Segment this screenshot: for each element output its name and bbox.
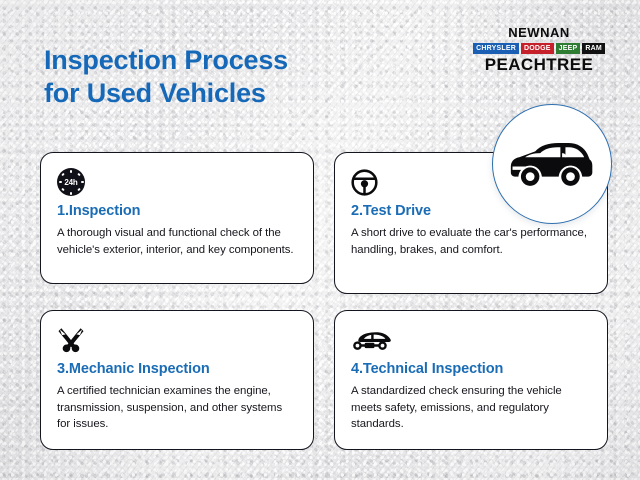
- crossed-wrenches-icon: [57, 326, 85, 354]
- infographic-canvas: Inspection Process for Used Vehicles NEW…: [0, 0, 640, 480]
- card-4-body: A standardized check ensuring the vehicl…: [351, 383, 591, 432]
- card-4-heading: 4.Technical Inspection: [351, 361, 591, 378]
- step-card-1: 24h 1.Inspection A thorough visual and f…: [40, 152, 314, 284]
- card-2-body: A short drive to evaluate the car's perf…: [351, 225, 591, 257]
- suv-car-icon: [510, 135, 594, 193]
- logo-top-text: NEWNAN: [464, 22, 614, 41]
- card-3-heading: 3.Mechanic Inspection: [57, 361, 297, 378]
- car-chassis-icon: [351, 327, 393, 353]
- clock-24h-icon-label: 24h: [64, 178, 77, 187]
- clock-24h-icon: 24h: [57, 168, 85, 196]
- logo-brand-badges: CHRYSLER DODGE JEEP RAM: [464, 43, 614, 54]
- page-title-line-1: Inspection Process: [44, 45, 288, 75]
- step-card-4: 4.Technical Inspection A standardized ch…: [334, 310, 608, 450]
- card-4-icon-wrap: [351, 325, 591, 355]
- badge-jeep: JEEP: [556, 43, 581, 54]
- step-card-3: 3.Mechanic Inspection A certified techni…: [40, 310, 314, 450]
- badge-ram: RAM: [582, 43, 605, 54]
- badge-chrysler: CHRYSLER: [473, 43, 519, 54]
- card-1-body: A thorough visual and functional check o…: [57, 225, 297, 257]
- page-title-line-2: for Used Vehicles: [44, 77, 404, 110]
- card-3-body: A certified technician examines the engi…: [57, 383, 297, 432]
- steering-wheel-icon: [351, 169, 378, 196]
- card-1-heading: 1.Inspection: [57, 203, 297, 220]
- badge-dodge: DODGE: [521, 43, 554, 54]
- card-1-icon-wrap: 24h: [57, 167, 297, 197]
- hero-vehicle-circle: [492, 104, 612, 224]
- card-3-icon-wrap: [57, 325, 297, 355]
- brand-logo: NEWNAN CHRYSLER DODGE JEEP RAM PEACHTREE: [464, 22, 614, 73]
- page-title: Inspection Process for Used Vehicles: [44, 44, 404, 110]
- logo-bottom-text: PEACHTREE: [464, 56, 614, 73]
